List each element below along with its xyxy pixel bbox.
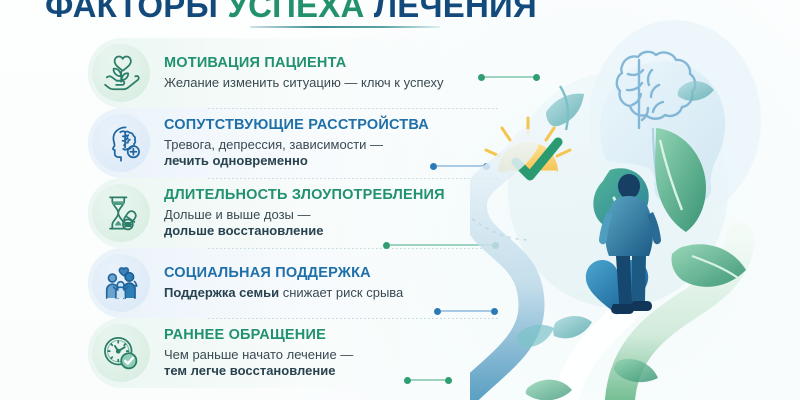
connector-bar — [411, 379, 445, 381]
item-text: МОТИВАЦИЯ ПАЦИЕНТА Желание изменить ситу… — [164, 55, 443, 92]
item-heading: РАННЕЕ ОБРАЩЕНИЕ — [164, 327, 353, 344]
item-text: РАННЕЕ ОБРАЩЕНИЕ Чем раньше начато лечен… — [164, 327, 353, 380]
item-text: СОЦИАЛЬНАЯ ПОДДЕРЖКА Поддержка семьи сни… — [164, 265, 403, 302]
hand-holding-heart-plant-icon — [99, 51, 143, 95]
title-underline — [250, 26, 440, 28]
connector-dot — [445, 377, 452, 384]
item-subtitle-line2: дольше восстановление — [164, 223, 323, 238]
list-item[interactable]: МОТИВАЦИЯ ПАЦИЕНТА Желание изменить ситу… — [88, 38, 480, 108]
item-heading: СОЦИАЛЬНАЯ ПОДДЕРЖКА — [164, 265, 403, 282]
list-item[interactable]: СОЦИАЛЬНАЯ ПОДДЕРЖКА Поддержка семьи сни… — [88, 248, 480, 318]
infographic-canvas: ФАКТОРЫ УСПЕХА ЛЕЧЕНИЯ — [0, 0, 800, 400]
connector-dot — [434, 308, 441, 315]
list-item[interactable]: СОПУТСТВУЮЩИЕ РАССТРОЙСТВА Тревога, депр… — [88, 108, 480, 178]
hourglass-pill-icon — [99, 191, 143, 235]
title-part-1: ФАКТОРЫ — [45, 0, 227, 24]
recovery-journey-illustration — [470, 0, 800, 400]
icon-badge — [92, 184, 150, 242]
item-text: СОПУТСТВУЮЩИЕ РАССТРОЙСТВА Тревога, депр… — [164, 117, 429, 170]
icon-badge — [92, 114, 150, 172]
item-subtitle-line1: Желание изменить ситуацию — ключ к успех… — [164, 75, 443, 90]
connector-dot — [430, 163, 437, 170]
list-item[interactable]: ДЛИТЕЛЬНОСТЬ ЗЛОУПОТРЕБЛЕНИЯ Дольше и вы… — [88, 178, 480, 248]
connector-dot — [383, 242, 390, 249]
item-heading: МОТИВАЦИЯ ПАЦИЕНТА — [164, 55, 443, 72]
item-subtitle: Чем раньше начато лечение — тем легче во… — [164, 347, 353, 380]
connector-dot — [404, 377, 411, 384]
family-heart-icon — [99, 261, 143, 305]
icon-badge — [92, 44, 150, 102]
item-subtitle-line2: тем легче восстановление — [164, 363, 335, 378]
row-divider — [208, 108, 498, 109]
item-subtitle-line1: снижает риск срыва — [279, 285, 403, 300]
row-divider — [208, 318, 498, 319]
item-subtitle: Дольше и выше дозы — дольше восстановлен… — [164, 207, 445, 240]
item-subtitle-line2: лечить одновременно — [164, 153, 308, 168]
item-subtitle: Желание изменить ситуацию — ключ к успех… — [164, 75, 443, 92]
item-subtitle: Тревога, депрессия, зависимости — лечить… — [164, 137, 429, 170]
head-brain-plus-icon — [99, 121, 143, 165]
title-part-2: УСПЕХА — [227, 0, 364, 24]
item-subtitle-line1: Тревога, депрессия, зависимости — — [164, 137, 383, 152]
item-subtitle: Поддержка семьи снижает риск срыва — [164, 285, 403, 302]
item-subtitle-bold: Поддержка семьи — [164, 285, 279, 300]
item-subtitle-line1: Дольше и выше дозы — — [164, 207, 311, 222]
item-subtitle-line1: Чем раньше начато лечение — — [164, 347, 353, 362]
connector-line-5 — [404, 375, 452, 385]
row-divider — [208, 178, 498, 179]
icon-badge — [92, 324, 150, 382]
icon-badge — [92, 254, 150, 312]
item-text: ДЛИТЕЛЬНОСТЬ ЗЛОУПОТРЕБЛЕНИЯ Дольше и вы… — [164, 187, 445, 240]
item-heading: СОПУТСТВУЮЩИЕ РАССТРОЙСТВА — [164, 117, 429, 134]
clock-check-icon — [99, 331, 143, 375]
item-heading: ДЛИТЕЛЬНОСТЬ ЗЛОУПОТРЕБЛЕНИЯ — [164, 187, 445, 204]
factors-list: МОТИВАЦИЯ ПАЦИЕНТА Желание изменить ситу… — [88, 38, 480, 388]
